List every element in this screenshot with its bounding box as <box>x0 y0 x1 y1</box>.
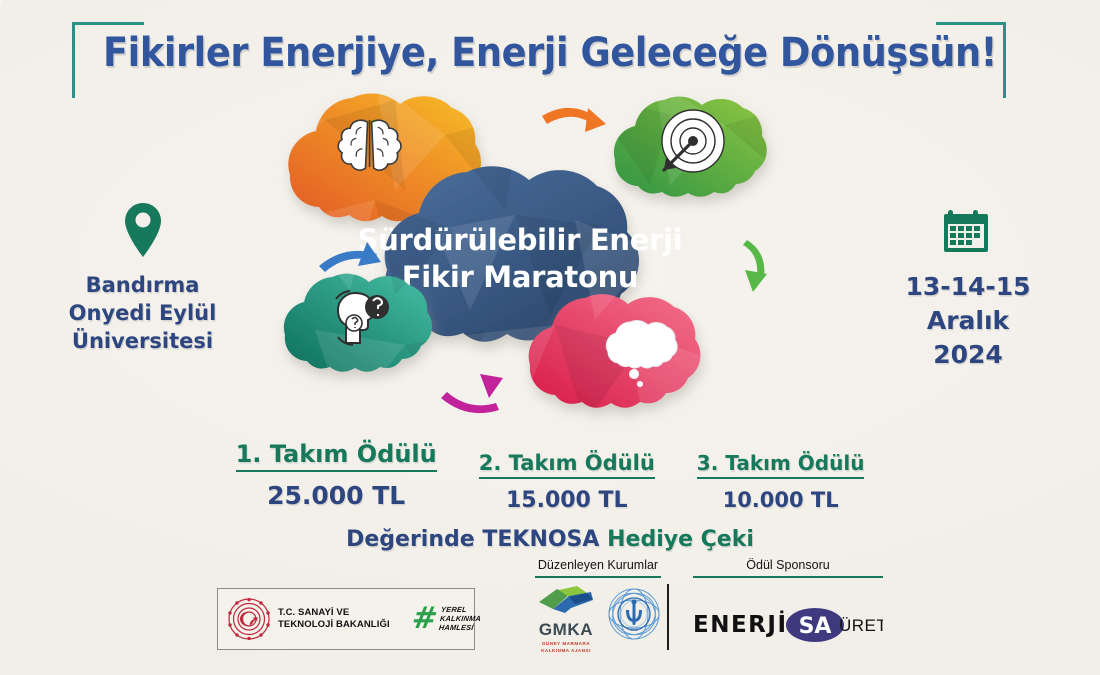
sponsor-column: Ödül Sponsoru ENERJİ SA ÜRETİM <box>693 558 883 648</box>
poster-canvas: Fikirler Enerjiye, Enerji Geleceğe Dönüş… <box>0 0 1100 675</box>
target-cloud <box>614 97 767 197</box>
question-cloud <box>284 274 432 372</box>
sponsor-caption: Ödül Sponsoru <box>693 558 883 578</box>
bracket-line-horizontal <box>72 22 144 25</box>
date-line-1: 13-14-15 <box>868 270 1068 304</box>
bandirma-onyedi-eylul-university-seal-icon: 2015 <box>607 586 661 642</box>
arrow-orange <box>542 108 606 132</box>
prize-section: 1. Takım Ödülü 25.000 TL 2. Takım Ödülü … <box>0 440 1100 552</box>
date-line-2: Aralık <box>868 304 1068 338</box>
date-line-3: 2024 <box>868 338 1068 372</box>
university-seal-wrapper: 2015 <box>607 586 661 647</box>
organisers-caption: Düzenleyen Kurumlar <box>535 558 661 578</box>
yerel-kalkinma-hamlesi-text: YEREL KALKINMA HAMLESİ <box>438 605 482 632</box>
arrow-magenta <box>441 374 503 413</box>
logo-band: T.C. SANAYİ VE TEKNOLOJİ BAKANLIĞI # YER… <box>0 558 1100 668</box>
target-icon <box>662 110 724 172</box>
ministry-logo: T.C. SANAYİ VE TEKNOLOJİ BAKANLIĞI <box>218 597 390 641</box>
gmka-subtitle: GÜNEY MARMARA KALKINMA AJANSI <box>535 641 597 654</box>
gmka-name: GMKA <box>535 620 597 640</box>
calendar-icon <box>868 198 1068 256</box>
venue-text: Bandırma Onyedi Eylül Üniversitesi <box>30 272 255 356</box>
prize-1: 1. Takım Ödülü 25.000 TL <box>236 440 437 510</box>
venue-line-3: Üniversitesi <box>30 328 255 356</box>
prize-3: 3. Takım Ödülü 10.000 TL <box>697 451 865 512</box>
poster-headline: Fikirler Enerjiye, Enerji Geleceğe Dönüş… <box>44 30 1056 76</box>
ministry-name-line-1: T.C. SANAYİ VE <box>278 607 390 619</box>
hashtag-icon: # <box>410 607 439 631</box>
ministry-column: T.C. SANAYİ VE TEKNOLOJİ BAKANLIĞI # YER… <box>217 558 475 650</box>
sponsor-divider <box>667 584 669 650</box>
voucher-part-3: Hediye Çeki <box>607 527 754 552</box>
enerjisa-text-part-2: SA <box>799 614 832 639</box>
enerjisa-uretim-logo: ENERJİ SA ÜRETİM <box>693 602 883 648</box>
gmka-subtitle-line-2: KALKINMA AJANSI <box>535 648 597 655</box>
prize-3-title: 3. Takım Ödülü <box>697 451 865 479</box>
cloud-title-line2: Fikir Maratonu <box>402 260 639 294</box>
bracket-line-horizontal <box>936 22 1006 25</box>
prize-1-title: 1. Takım Ödülü <box>236 440 437 472</box>
gmka-subtitle-line-1: GÜNEY MARMARA <box>535 641 597 648</box>
enerjisa-text-part-3: ÜRETİM <box>839 616 883 635</box>
prize-2-title: 2. Takım Ödülü <box>479 451 655 479</box>
voucher-note: Değerinde TEKNOSA Hediye Çeki <box>0 527 1100 552</box>
location-pin-icon <box>30 200 255 258</box>
gmka-mark-icon <box>535 586 597 614</box>
date-text: 13-14-15 Aralık 2024 <box>868 270 1068 372</box>
voucher-part-1: Değerinde <box>346 527 475 552</box>
prize-2-amount: 15.000 TL <box>479 488 655 513</box>
ministry-name-line-2: TEKNOLOJİ BAKANLIĞI <box>278 619 390 631</box>
yerel-kalkinma-hamlesi-logo: # YEREL KALKINMA HAMLESİ <box>412 605 481 632</box>
prize-3-amount: 10.000 TL <box>697 488 865 512</box>
venue-line-1: Bandırma <box>30 272 255 300</box>
svg-text:2015: 2015 <box>630 628 638 632</box>
prize-2: 2. Takım Ödülü 15.000 TL <box>479 451 655 513</box>
ministry-name: T.C. SANAYİ VE TEKNOLOJİ BAKANLIĞI <box>278 607 390 631</box>
venue-info: Bandırma Onyedi Eylül Üniversitesi <box>30 200 255 356</box>
prize-row: 1. Takım Ödülü 25.000 TL 2. Takım Ödülü … <box>0 440 1100 513</box>
gmka-logo: GMKA GÜNEY MARMARA KALKINMA AJANSI <box>535 586 597 654</box>
turkish-ministry-emblem-icon <box>227 597 271 641</box>
venue-line-2: Onyedi Eylül <box>30 300 255 328</box>
date-info: 13-14-15 Aralık 2024 <box>868 198 1068 372</box>
cloud-title-line1: Sürdürülebilir Enerji <box>358 223 683 257</box>
ministry-logo-box: T.C. SANAYİ VE TEKNOLOJİ BAKANLIĞI # YER… <box>217 588 475 650</box>
organisers-logos: GMKA GÜNEY MARMARA KALKINMA AJANSI <box>535 586 661 654</box>
arrow-green <box>743 240 767 292</box>
organisers-column: Düzenleyen Kurumlar GMKA GÜNEY MARMARA K… <box>535 558 661 654</box>
voucher-brand: TEKNOSA <box>482 527 599 552</box>
cloud-illustration: Sürdürülebilir Enerji Fikir Maratonu <box>255 80 855 430</box>
enerjisa-text-part-1: ENERJİ <box>693 610 788 638</box>
prize-1-amount: 25.000 TL <box>236 481 437 510</box>
campaign-line-3: HAMLESİ <box>438 624 480 633</box>
